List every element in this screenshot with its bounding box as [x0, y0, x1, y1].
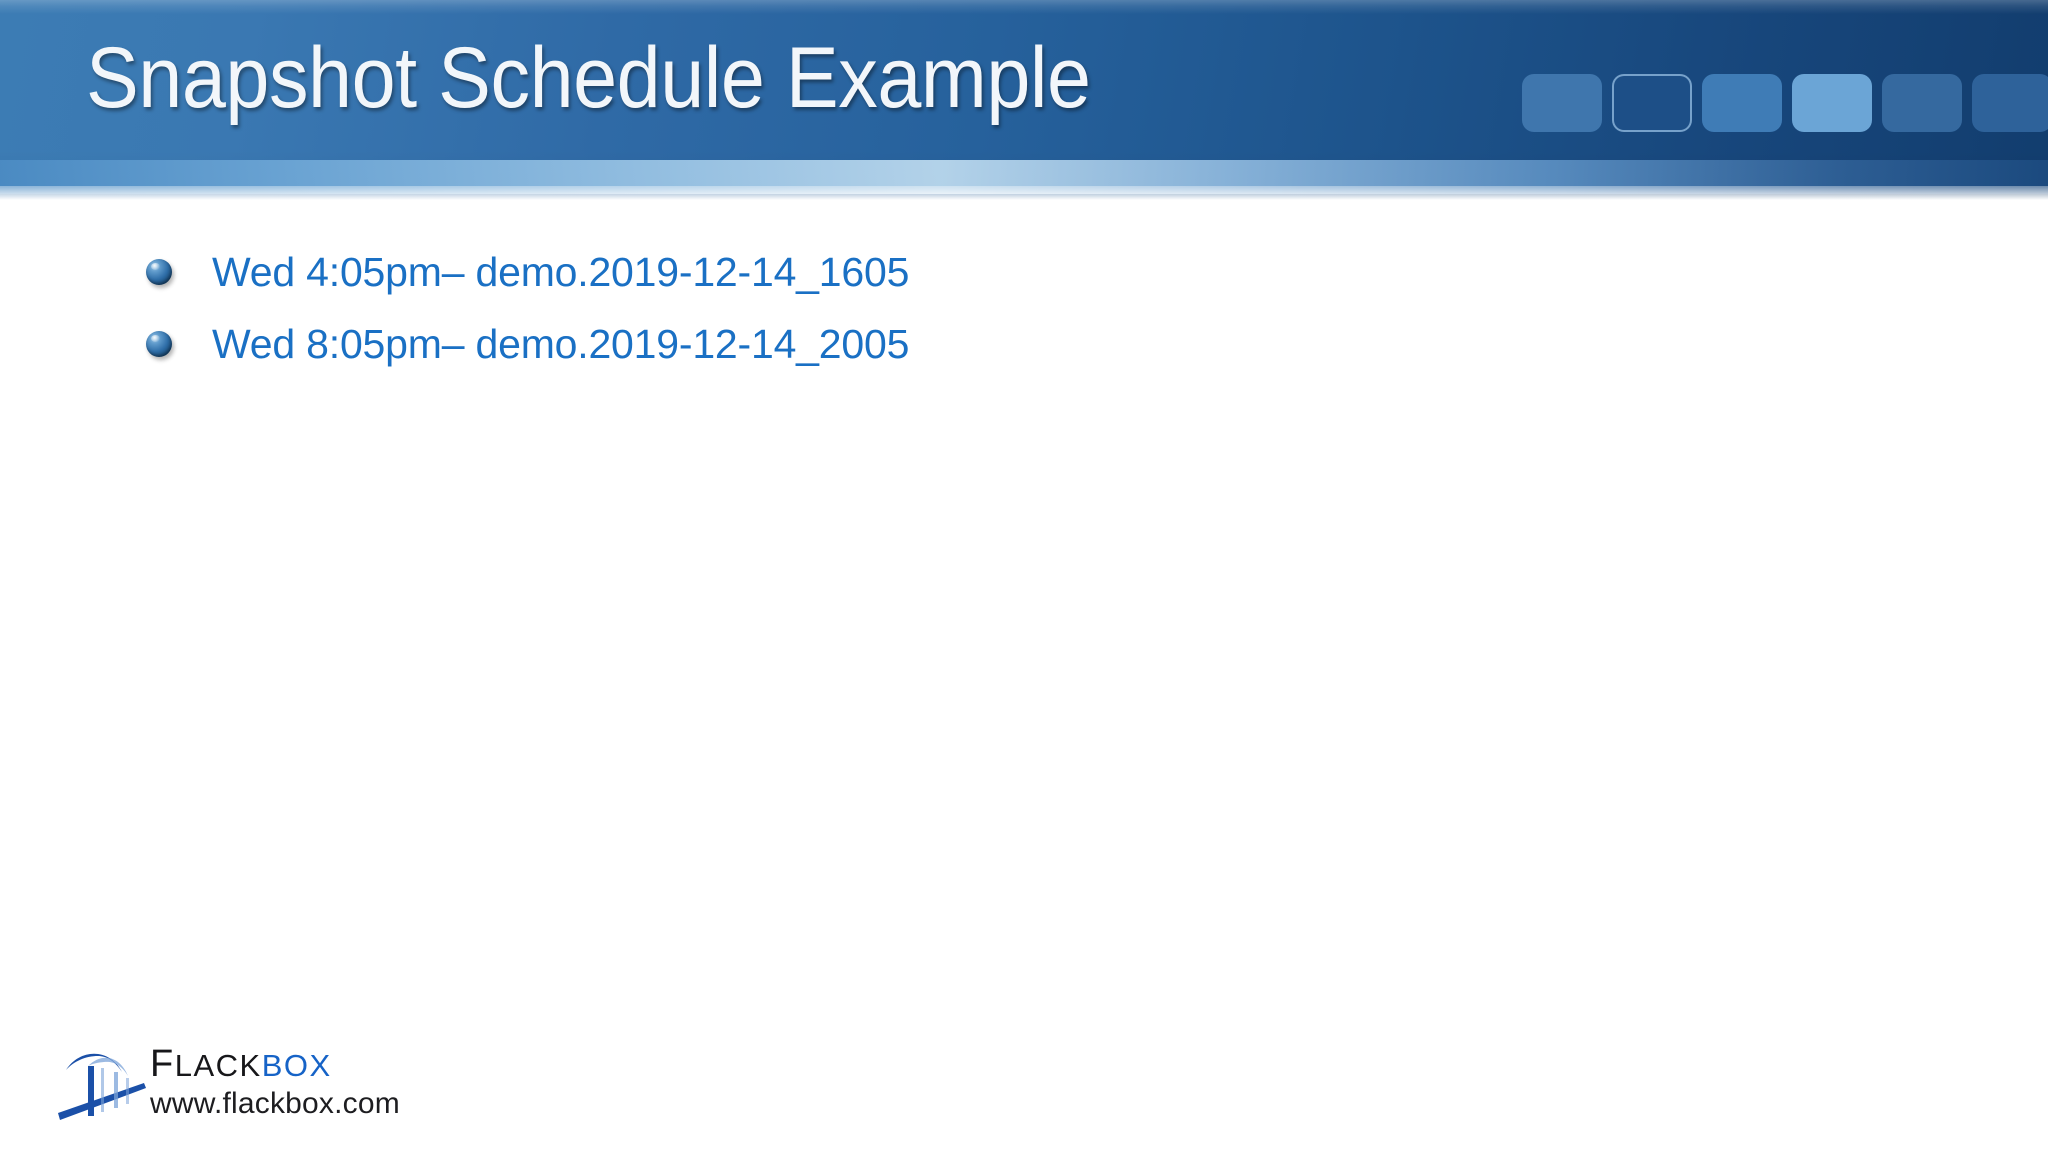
slide-header: Snapshot Schedule Example	[0, 0, 2048, 200]
decor-square-4	[1792, 74, 1872, 132]
decor-square-3	[1702, 74, 1782, 132]
content-bullet-list: Wed 4:05pm– demo.2019-12-14_1605 Wed 8:0…	[0, 236, 2048, 380]
list-item: Wed 4:05pm– demo.2019-12-14_1605	[0, 236, 2048, 308]
slide: Snapshot Schedule Example Wed 4:05pm– de…	[0, 0, 2048, 1152]
bridge-arch-icon	[58, 1050, 148, 1120]
bullet-text: Wed 4:05pm– demo.2019-12-14_1605	[212, 248, 909, 296]
logo-brand-dark: LACK	[175, 1048, 262, 1083]
logo-brand-name: FLACKBOX	[150, 1042, 418, 1086]
bullet-text: Wed 8:05pm– demo.2019-12-14_2005	[212, 320, 909, 368]
logo-brand-initial: F	[150, 1043, 175, 1085]
decor-square-5	[1882, 74, 1962, 132]
flackbox-logo: FLACKBOX www.flackbox.com	[58, 1042, 418, 1132]
decor-square-1	[1522, 74, 1602, 132]
decor-square-6	[1972, 74, 2048, 132]
list-item: Wed 8:05pm– demo.2019-12-14_2005	[0, 308, 2048, 380]
header-band-fade	[0, 186, 2048, 200]
bullet-sphere-icon	[146, 259, 172, 285]
bullet-sphere-icon	[146, 331, 172, 357]
decor-square-2	[1612, 74, 1692, 132]
page-title: Snapshot Schedule Example	[86, 28, 1091, 128]
header-decor-squares	[1522, 74, 2048, 132]
logo-brand-blue: BOX	[262, 1048, 332, 1083]
logo-wordmark: FLACKBOX www.flackbox.com	[150, 1042, 418, 1122]
logo-url: www.flackbox.com	[150, 1086, 418, 1122]
